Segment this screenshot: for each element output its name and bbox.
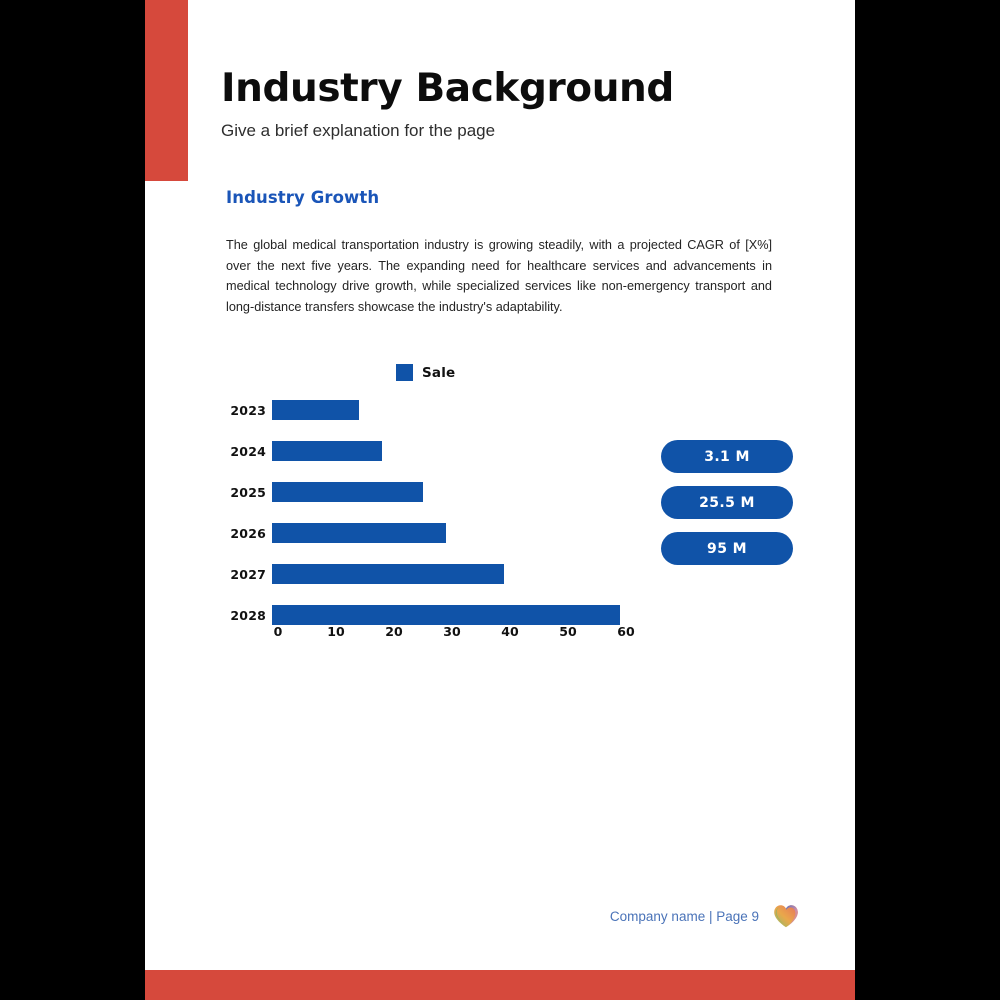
bar-row: 2028 bbox=[226, 605, 626, 625]
document-page: Industry Background Give a brief explana… bbox=[145, 0, 855, 1000]
legend-swatch-sale bbox=[396, 364, 413, 381]
bar-track bbox=[272, 400, 620, 420]
bar-fill bbox=[272, 523, 446, 543]
footer-company-page-label: Company name | Page 9 bbox=[610, 909, 759, 924]
chart-x-axis: 0102030405060 bbox=[278, 624, 626, 644]
stat-pill-group: 3.1 M25.5 M95 M bbox=[661, 440, 793, 565]
sales-bar-chart: Sale 202320242025202620272028 0102030405… bbox=[226, 358, 636, 648]
bar-row: 2027 bbox=[226, 564, 626, 584]
bar-fill bbox=[272, 564, 504, 584]
bar-category-label: 2025 bbox=[226, 485, 272, 500]
x-axis-tick-label: 60 bbox=[617, 624, 634, 639]
bar-category-label: 2028 bbox=[226, 608, 272, 623]
screenshot-canvas: Industry Background Give a brief explana… bbox=[0, 0, 1000, 1000]
bar-track bbox=[272, 482, 620, 502]
heart-logo-icon bbox=[773, 904, 799, 928]
page-footer: Company name | Page 9 bbox=[145, 900, 855, 932]
page-title: Industry Background bbox=[221, 66, 821, 112]
stat-pill[interactable]: 3.1 M bbox=[661, 440, 793, 473]
bar-row: 2023 bbox=[226, 400, 626, 420]
bar-track bbox=[272, 523, 620, 543]
bar-category-label: 2026 bbox=[226, 526, 272, 541]
bar-fill bbox=[272, 400, 359, 420]
section-body-industry-growth: The global medical transportation indust… bbox=[226, 235, 772, 317]
bar-category-label: 2027 bbox=[226, 567, 272, 582]
x-axis-tick-label: 20 bbox=[385, 624, 402, 639]
bar-row: 2026 bbox=[226, 523, 626, 543]
x-axis-tick-label: 0 bbox=[274, 624, 283, 639]
bar-track bbox=[272, 564, 620, 584]
page-subtitle: Give a brief explanation for the page bbox=[221, 121, 821, 141]
bar-fill bbox=[272, 441, 382, 461]
bar-row: 2024 bbox=[226, 441, 626, 461]
bar-row: 2025 bbox=[226, 482, 626, 502]
stat-pill[interactable]: 25.5 M bbox=[661, 486, 793, 519]
red-accent-bar-top bbox=[145, 0, 188, 181]
bar-category-label: 2024 bbox=[226, 444, 272, 459]
stat-pill[interactable]: 95 M bbox=[661, 532, 793, 565]
x-axis-tick-label: 30 bbox=[443, 624, 460, 639]
x-axis-tick-label: 10 bbox=[327, 624, 344, 639]
x-axis-tick-label: 50 bbox=[559, 624, 576, 639]
bar-fill bbox=[272, 482, 423, 502]
legend-label-sale: Sale bbox=[422, 365, 455, 381]
page-header: Industry Background Give a brief explana… bbox=[221, 66, 821, 141]
chart-plot-area: 202320242025202620272028 bbox=[226, 396, 626, 648]
bar-fill bbox=[272, 605, 620, 625]
bar-category-label: 2023 bbox=[226, 403, 272, 418]
chart-legend: Sale bbox=[396, 364, 455, 381]
x-axis-tick-label: 40 bbox=[501, 624, 518, 639]
bar-track bbox=[272, 605, 620, 625]
section-industry-growth: Industry Growth The global medical trans… bbox=[226, 188, 774, 317]
section-heading-industry-growth: Industry Growth bbox=[226, 188, 774, 207]
bar-track bbox=[272, 441, 620, 461]
red-accent-band-bottom bbox=[145, 970, 855, 1000]
